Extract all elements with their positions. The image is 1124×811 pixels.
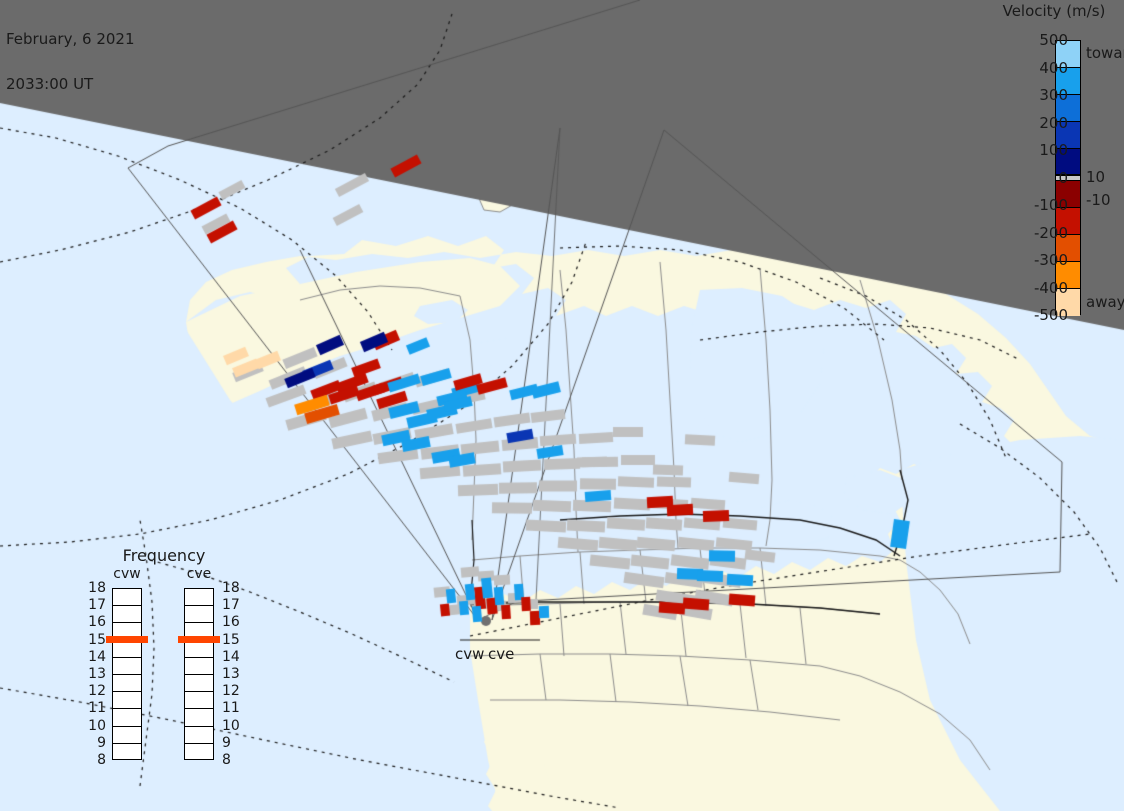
colorbar-tick-200: 200 bbox=[1039, 114, 1068, 132]
frequency-marker-cve bbox=[178, 636, 220, 643]
colorbar-tick--200: -200 bbox=[1034, 224, 1068, 242]
frequency-tick-cvw-12: 12 bbox=[80, 683, 106, 699]
frequency-tick-cvw-17: 17 bbox=[80, 597, 106, 613]
timestamp: February, 6 2021 2033:00 UT bbox=[6, 2, 135, 122]
frequency-segment bbox=[113, 675, 141, 692]
colorbar-tick--500: -500 bbox=[1034, 306, 1068, 324]
colorbar-tick-300: 300 bbox=[1039, 86, 1068, 104]
frequency-gauge-label-cve: cve bbox=[176, 566, 222, 582]
frequency-segment bbox=[185, 641, 213, 658]
radar-site-label-cve: cve bbox=[488, 645, 514, 663]
frequency-segment bbox=[113, 641, 141, 658]
frequency-segment bbox=[113, 589, 141, 606]
frequency-tick-cve-9: 9 bbox=[222, 735, 248, 751]
frequency-tick-cve-18: 18 bbox=[222, 580, 248, 596]
frequency-marker-cvw bbox=[106, 636, 148, 643]
frequency-tick-cve-13: 13 bbox=[222, 666, 248, 682]
frequency-tick-cvw-14: 14 bbox=[80, 649, 106, 665]
frequency-tick-cve-12: 12 bbox=[222, 683, 248, 699]
superdarn-map-view: February, 6 2021 2033:00 UT Velocity (m/… bbox=[0, 0, 1124, 811]
frequency-panel: Frequency cvw18171615141312111098cve1817… bbox=[88, 546, 240, 786]
frequency-segment bbox=[185, 675, 213, 692]
frequency-tick-cvw-9: 9 bbox=[80, 735, 106, 751]
frequency-tick-cve-14: 14 bbox=[222, 649, 248, 665]
frequency-tick-cve-10: 10 bbox=[222, 718, 248, 734]
velocity-colorbar: Velocity (m/s) 5004003002001000-100-200-… bbox=[982, 0, 1124, 340]
frequency-tick-cvw-18: 18 bbox=[80, 580, 106, 596]
frequency-gauge-box-cvw bbox=[112, 588, 142, 760]
colorbar-tick-400: 400 bbox=[1039, 59, 1068, 77]
frequency-tick-cve-8: 8 bbox=[222, 752, 248, 768]
frequency-title: Frequency bbox=[88, 546, 240, 565]
colorbar-tick--400: -400 bbox=[1034, 279, 1068, 297]
frequency-segment bbox=[113, 727, 141, 744]
colorbar-title: Velocity (m/s) bbox=[988, 2, 1120, 20]
frequency-tick-cve-11: 11 bbox=[222, 700, 248, 716]
colorbar-tick--100: -100 bbox=[1034, 196, 1068, 214]
timestamp-date: February, 6 2021 bbox=[6, 32, 135, 47]
frequency-tick-cvw-13: 13 bbox=[80, 666, 106, 682]
colorbar-tick-100: 100 bbox=[1039, 141, 1068, 159]
frequency-segment bbox=[113, 709, 141, 726]
frequency-segment bbox=[185, 658, 213, 675]
frequency-tick-cvw-10: 10 bbox=[80, 718, 106, 734]
frequency-gauge-label-cvw: cvw bbox=[104, 566, 150, 582]
frequency-tick-cvw-11: 11 bbox=[80, 700, 106, 716]
colorbar-toward-label: toward bbox=[1086, 44, 1124, 62]
frequency-segment bbox=[185, 606, 213, 623]
frequency-tick-cve-17: 17 bbox=[222, 597, 248, 613]
colorbar-tick--300: -300 bbox=[1034, 251, 1068, 269]
frequency-segment bbox=[185, 727, 213, 744]
frequency-segment bbox=[185, 744, 213, 761]
radar-site-label-cvw: cvw bbox=[455, 645, 484, 663]
frequency-gauge-box-cve bbox=[184, 588, 214, 760]
timestamp-time: 2033:00 UT bbox=[6, 77, 135, 92]
colorbar-tick-500: 500 bbox=[1039, 31, 1068, 49]
colorbar-pos-threshold: 10 bbox=[1086, 168, 1105, 186]
frequency-segment bbox=[113, 692, 141, 709]
frequency-tick-cve-16: 16 bbox=[222, 614, 248, 630]
frequency-segment bbox=[185, 589, 213, 606]
frequency-segment bbox=[113, 744, 141, 761]
frequency-tick-cvw-16: 16 bbox=[80, 614, 106, 630]
frequency-tick-cvw-15: 15 bbox=[80, 632, 106, 648]
colorbar-neg-threshold: -10 bbox=[1086, 191, 1111, 209]
frequency-segment bbox=[113, 658, 141, 675]
frequency-tick-cvw-8: 8 bbox=[80, 752, 106, 768]
frequency-segment bbox=[185, 692, 213, 709]
colorbar-tick-0: 0 bbox=[1058, 169, 1068, 187]
frequency-segment bbox=[185, 709, 213, 726]
frequency-segment bbox=[113, 606, 141, 623]
colorbar-away-label: away bbox=[1086, 293, 1124, 311]
frequency-tick-cve-15: 15 bbox=[222, 632, 248, 648]
